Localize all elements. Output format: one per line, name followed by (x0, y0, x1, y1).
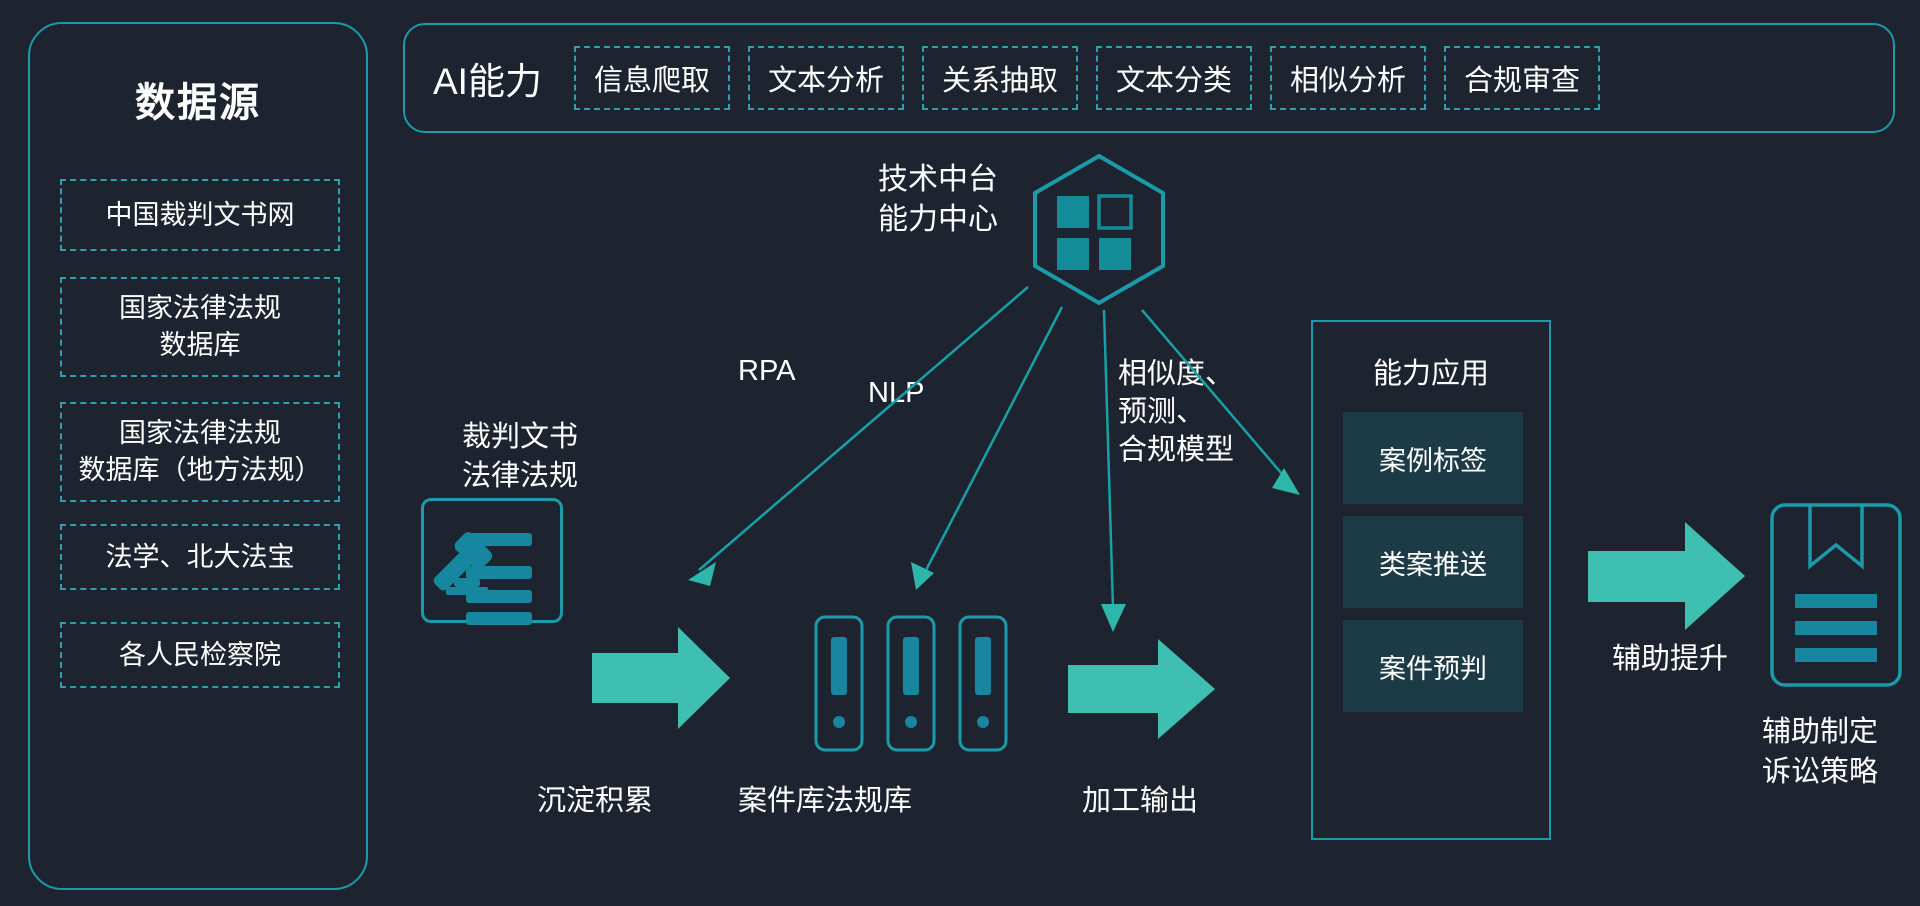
diagram-canvas: 数据源 中国裁判文书网 国家法律法规数据库 国家法律法规数据库（地方法规） 法学… (0, 0, 1920, 906)
ai-chip-1[interactable]: 文本分析 (748, 46, 904, 110)
capability-application-title: 能力应用 (1313, 350, 1549, 392)
arrow-accumulate (592, 627, 730, 729)
ai-capability-title: AI能力 (433, 51, 542, 105)
document-group-label: 裁判文书法律法规 (420, 418, 620, 496)
flow-label-nlp: NLP (868, 377, 924, 410)
step2-label: 加工输出 (1030, 782, 1250, 821)
data-source-item-1-label: 国家法律法规数据库 (119, 290, 281, 364)
ai-chip-0[interactable]: 信息爬取 (574, 46, 730, 110)
arrow-output (1068, 639, 1215, 739)
assist-label: 辅助提升 (1570, 640, 1770, 679)
ai-chip-5[interactable]: 合规审查 (1444, 46, 1600, 110)
hexagon-four-squares-icon (1035, 156, 1163, 303)
tech-hub-label: 技术中台能力中心 (838, 160, 1038, 240)
arrow-rpa (688, 287, 1028, 586)
data-source-item-4[interactable]: 各人民检察院 (60, 622, 340, 688)
judgment-document-box (421, 498, 563, 623)
arrow-nlp (911, 307, 1062, 590)
data-source-item-3-label: 法学、北大法宝 (106, 539, 295, 576)
bookmark-document-icon (1772, 505, 1900, 685)
flow-label-rpa: RPA (738, 355, 795, 388)
flow-label-similarity: 相似度、预测、合规模型 (1118, 355, 1234, 469)
store-label: 案件库法规库 (700, 782, 950, 821)
data-source-item-0-label: 中国裁判文书网 (106, 197, 295, 234)
data-source-item-2[interactable]: 国家法律法规数据库（地方法规） (60, 402, 340, 502)
data-source-item-1[interactable]: 国家法律法规数据库 (60, 277, 340, 377)
capability-item-case-prediction[interactable]: 案件预判 (1343, 620, 1523, 712)
data-source-item-2-label: 国家法律法规数据库（地方法规） (79, 415, 322, 489)
data-source-item-3[interactable]: 法学、北大法宝 (60, 524, 340, 590)
data-source-panel: 数据源 中国裁判文书网 国家法律法规数据库 国家法律法规数据库（地方法规） 法学… (28, 22, 368, 890)
ai-capability-bar: AI能力 信息爬取 文本分析 关系抽取 文本分类 相似分析 合规审查 (403, 23, 1895, 133)
data-source-title: 数据源 (30, 70, 366, 128)
capability-item-case-tag[interactable]: 案例标签 (1343, 412, 1523, 504)
ai-chip-4[interactable]: 相似分析 (1270, 46, 1426, 110)
server-rack-icon (816, 617, 1006, 750)
step1-label: 沉淀积累 (500, 782, 690, 821)
capability-application-panel: 能力应用 案例标签 类案推送 案件预判 (1311, 320, 1551, 840)
strategy-label: 辅助制定诉讼策略 (1710, 712, 1920, 792)
data-source-item-4-label: 各人民检察院 (119, 637, 281, 674)
ai-chip-3[interactable]: 文本分类 (1096, 46, 1252, 110)
ai-chip-2[interactable]: 关系抽取 (922, 46, 1078, 110)
arrow-assist (1588, 522, 1745, 630)
capability-item-similar-case-push[interactable]: 类案推送 (1343, 516, 1523, 608)
data-source-item-0[interactable]: 中国裁判文书网 (60, 179, 340, 251)
